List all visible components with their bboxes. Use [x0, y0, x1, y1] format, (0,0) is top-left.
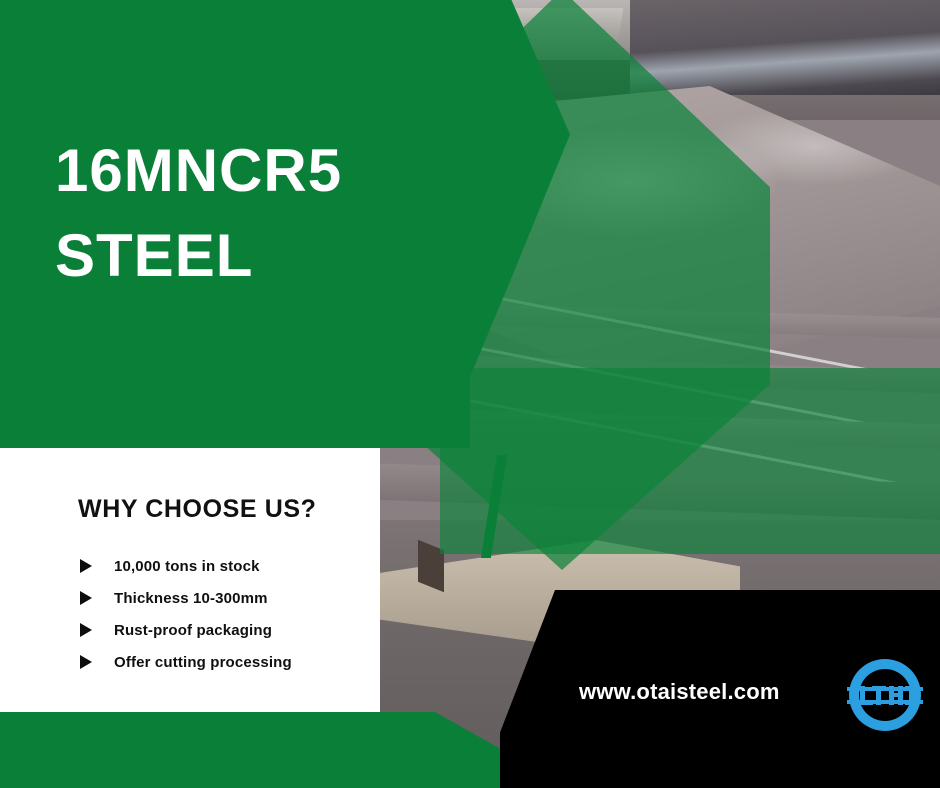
list-item: Thickness 10-300mm	[78, 582, 317, 614]
list-item-label: Rust-proof packaging	[114, 622, 272, 639]
why-choose-us-section: WHY CHOOSE US? 10,000 tons in stock Thic…	[78, 495, 317, 678]
list-item: Rust-proof packaging	[78, 614, 317, 646]
website-url[interactable]: www.otaisteel.com	[579, 679, 780, 705]
benefits-list: 10,000 tons in stock Thickness 10-300mm …	[78, 550, 317, 678]
triangle-right-icon	[78, 654, 94, 670]
page-title: 16MNCR5 STEEL	[55, 128, 342, 298]
why-choose-us-heading: WHY CHOOSE US?	[78, 495, 317, 524]
list-item-label: Offer cutting processing	[114, 654, 292, 671]
list-item-label: Thickness 10-300mm	[114, 590, 268, 607]
list-item-label: 10,000 tons in stock	[114, 558, 260, 575]
poster-canvas: 16MNCR5 STEEL WHY CHOOSE US? 10,000 tons…	[0, 0, 940, 788]
triangle-right-icon	[78, 558, 94, 574]
triangle-right-icon	[78, 590, 94, 606]
list-item: Offer cutting processing	[78, 646, 317, 678]
triangle-right-icon	[78, 622, 94, 638]
list-item: 10,000 tons in stock	[78, 550, 317, 582]
otai-logo-icon	[843, 653, 927, 737]
otai-logo[interactable]	[843, 653, 927, 737]
photo-far-plate-right	[630, 0, 940, 95]
